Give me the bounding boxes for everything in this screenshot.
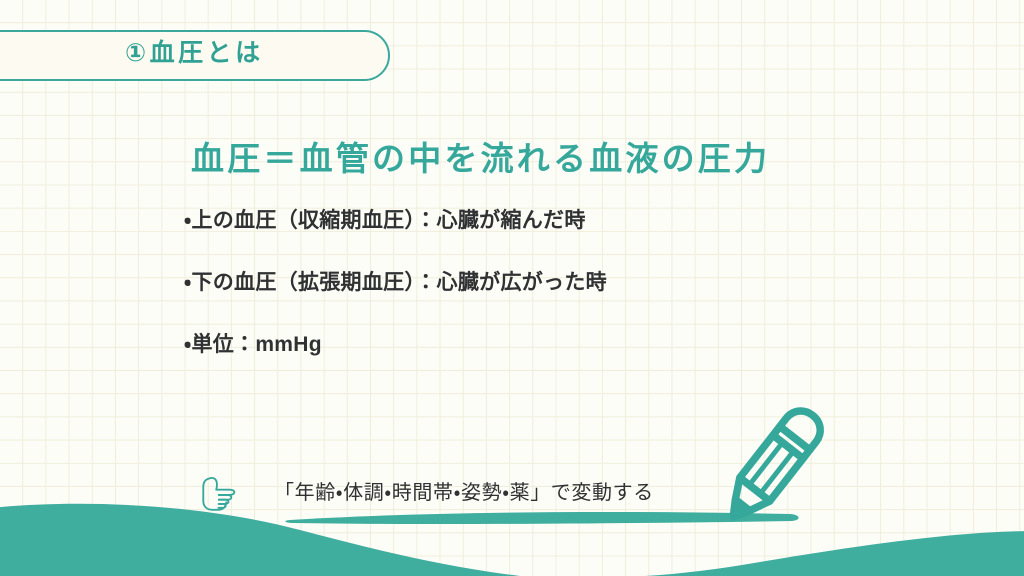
slide-canvas: ①血圧とは 血圧＝血管の中を流れる血液の圧力 ・上の血圧（収縮期血圧）：心臓が縮… — [0, 0, 1024, 576]
pencil-icon — [0, 0, 1024, 576]
